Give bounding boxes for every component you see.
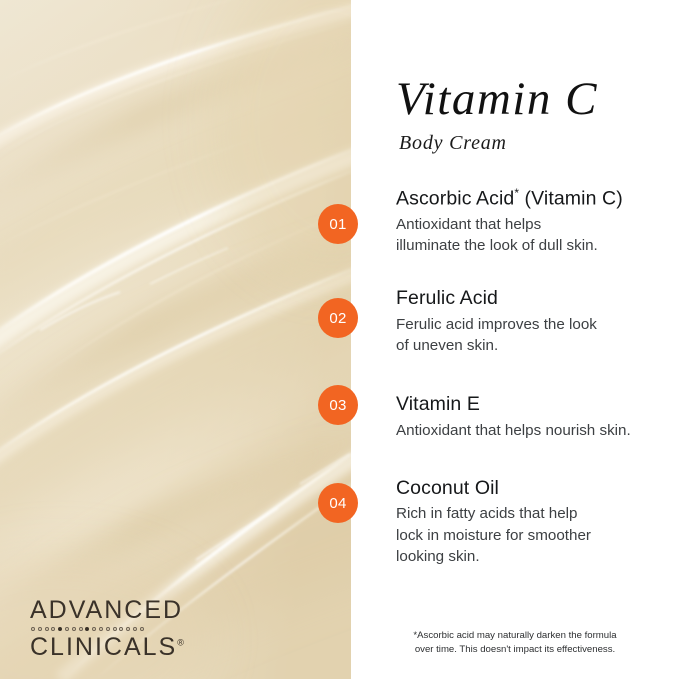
- logo-dot: [126, 627, 130, 631]
- ingredient-title: Vitamin E: [396, 393, 666, 416]
- ingredient-item-ferulic-acid: Ferulic Acid Ferulic acid improves the l…: [396, 287, 666, 356]
- ingredient-title-text: Ferulic Acid: [396, 287, 498, 309]
- registered-trademark-mark: ®: [177, 637, 184, 647]
- ingredient-title: Coconut Oil: [396, 477, 666, 500]
- ingredient-title-text: Coconut Oil: [396, 477, 499, 499]
- logo-dot: [72, 627, 76, 631]
- logo-dot: [119, 627, 123, 631]
- brand-logo-line-1: ADVANCED: [30, 598, 210, 624]
- logo-dot: [79, 627, 83, 631]
- step-badge-03[interactable]: 03: [318, 385, 358, 425]
- logo-dot: [45, 627, 49, 631]
- step-badge-02[interactable]: 02: [318, 298, 358, 338]
- ingredient-title: Ferulic Acid: [396, 287, 666, 310]
- step-badge-01[interactable]: 01: [318, 204, 358, 244]
- logo-dot: [58, 627, 62, 631]
- footnote-disclaimer: *Ascorbic acid may naturally darken the …: [390, 629, 640, 656]
- ingredient-title-suffix: (Vitamin C): [519, 188, 623, 210]
- ingredient-description: Antioxidant that helps illuminate the lo…: [396, 214, 666, 257]
- ingredient-list: Ascorbic Acid* (Vitamin C) Antioxidant t…: [396, 186, 666, 567]
- logo-dot: [92, 627, 96, 631]
- logo-dot: [85, 627, 89, 631]
- logo-dot: [51, 627, 55, 631]
- ingredient-title: Ascorbic Acid* (Vitamin C): [396, 186, 666, 211]
- logo-dot: [65, 627, 69, 631]
- ingredient-description: Ferulic acid improves the look of uneven…: [396, 314, 666, 357]
- logo-dot: [133, 627, 137, 631]
- ingredient-item-vitamin-e: Vitamin E Antioxidant that helps nourish…: [396, 393, 666, 441]
- ingredient-item-coconut-oil: Coconut Oil Rich in fatty acids that hel…: [396, 477, 666, 567]
- logo-dot: [99, 627, 103, 631]
- brand-logo-line-2: CLINICALS®: [30, 635, 210, 661]
- page-title: Vitamin C: [396, 76, 661, 123]
- ingredient-item-ascorbic-acid: Ascorbic Acid* (Vitamin C) Antioxidant t…: [396, 186, 666, 256]
- logo-dot: [106, 627, 110, 631]
- page-subtitle: Body Cream: [399, 132, 661, 155]
- infographic-canvas: ADVANCED CLINICALS®: [0, 0, 679, 679]
- logo-dot: [113, 627, 117, 631]
- step-badge-04[interactable]: 04: [318, 483, 358, 523]
- logo-dot: [38, 627, 42, 631]
- ingredient-title-text: Vitamin E: [396, 393, 480, 415]
- logo-dot: [140, 627, 144, 631]
- title-block: Vitamin C Body Cream: [396, 76, 661, 155]
- ingredient-description: Rich in fatty acids that help lock in mo…: [396, 503, 666, 567]
- brand-logo: ADVANCED CLINICALS®: [30, 598, 210, 660]
- logo-dot: [31, 627, 35, 631]
- brand-logo-line-2-text: CLINICALS: [30, 633, 177, 661]
- ingredient-title-text: Ascorbic Acid: [396, 188, 514, 210]
- product-texture-image: ADVANCED CLINICALS®: [0, 0, 351, 679]
- ingredient-description: Antioxidant that helps nourish skin.: [396, 420, 666, 441]
